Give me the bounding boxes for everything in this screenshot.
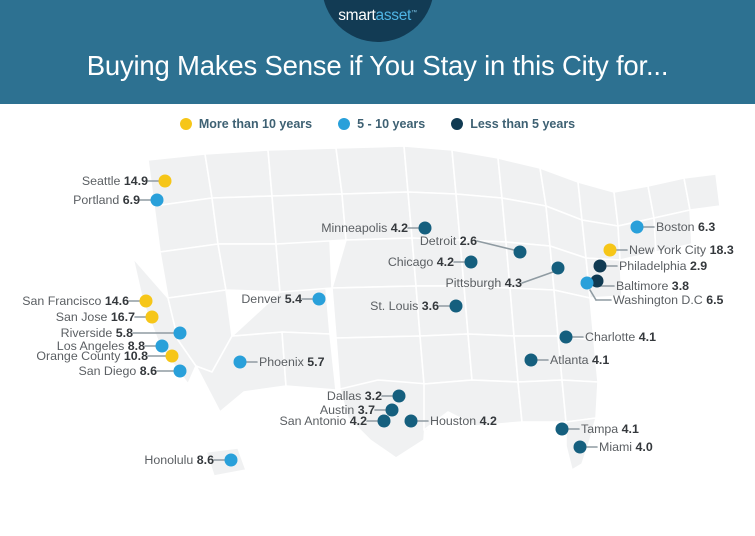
city-name-tampa: Tampa	[581, 422, 618, 436]
legend-label-less-than-5: Less than 5 years	[470, 117, 575, 131]
city-dot-philadelphia[interactable]	[594, 260, 607, 273]
city-dot-riverside[interactable]	[174, 327, 187, 340]
city-name-phoenix: Phoenix	[259, 355, 304, 369]
city-label-charlotte: Charlotte 4.1	[585, 330, 656, 344]
city-name-philadelphia: Philadelphia	[619, 259, 687, 273]
city-label-portland: Portland 6.9	[73, 193, 140, 207]
city-dot-atlanta[interactable]	[525, 354, 538, 367]
city-value-san-diego: 8.6	[140, 364, 157, 378]
city-value-san-francisco: 14.6	[105, 294, 129, 308]
city-name-washington-dc: Washington D.C	[613, 293, 703, 307]
city-dot-pittsburgh[interactable]	[552, 262, 565, 275]
city-name-orange-county: Orange County	[36, 349, 120, 363]
city-dot-san-jose[interactable]	[146, 311, 159, 324]
city-name-minneapolis: Minneapolis	[321, 221, 387, 235]
city-dot-miami[interactable]	[574, 441, 587, 454]
city-value-new-york-city: 18.3	[710, 243, 734, 257]
infographic-page: smartasset™ Buying Makes Sense if You St…	[0, 0, 755, 536]
city-name-honolulu: Honolulu	[144, 453, 193, 467]
city-value-boston: 6.3	[698, 220, 715, 234]
city-label-seattle: Seattle 14.9	[82, 174, 148, 188]
city-dot-new-york-city[interactable]	[604, 244, 617, 257]
city-label-minneapolis: Minneapolis 4.2	[321, 221, 408, 235]
city-label-miami: Miami 4.0	[599, 440, 653, 454]
city-dot-dallas[interactable]	[393, 390, 406, 403]
city-name-new-york-city: New York City	[629, 243, 706, 257]
city-label-houston: Houston 4.2	[430, 414, 497, 428]
city-dot-chicago[interactable]	[465, 256, 478, 269]
city-dot-san-francisco[interactable]	[140, 295, 153, 308]
city-value-chicago: 4.2	[437, 255, 454, 269]
city-label-st-louis: St. Louis 3.6	[370, 299, 439, 313]
smartasset-logo[interactable]: smartasset™	[322, 0, 434, 42]
city-dot-seattle[interactable]	[159, 175, 172, 188]
city-label-honolulu: Honolulu 8.6	[144, 453, 214, 467]
city-value-phoenix: 5.7	[307, 355, 324, 369]
city-label-orange-county: Orange County 10.8	[36, 349, 148, 363]
legend: More than 10 years 5 - 10 years Less tha…	[0, 104, 755, 144]
city-label-denver: Denver 5.4	[241, 292, 302, 306]
city-value-pittsburgh: 4.3	[505, 276, 522, 290]
city-value-san-jose: 16.7	[111, 310, 135, 324]
logo-asset-text: asset	[376, 7, 412, 24]
legend-label-more-than-10: More than 10 years	[199, 117, 312, 131]
city-label-san-francisco: San Francisco 14.6	[22, 294, 129, 308]
legend-item-5-to-10[interactable]: 5 - 10 years	[338, 117, 425, 131]
city-dot-honolulu[interactable]	[225, 454, 238, 467]
city-label-detroit: Detroit 2.6	[420, 234, 477, 248]
city-value-orange-county: 10.8	[124, 349, 148, 363]
city-dot-phoenix[interactable]	[234, 356, 247, 369]
city-label-riverside: Riverside 5.8	[61, 326, 133, 340]
legend-item-less-than-5[interactable]: Less than 5 years	[451, 117, 575, 131]
city-value-portland: 6.9	[123, 193, 140, 207]
legend-item-more-than-10[interactable]: More than 10 years	[180, 117, 312, 131]
city-label-philadelphia: Philadelphia 2.9	[619, 259, 707, 273]
city-value-denver: 5.4	[285, 292, 302, 306]
city-name-san-jose: San Jose	[56, 310, 108, 324]
city-name-houston: Houston	[430, 414, 476, 428]
city-value-riverside: 5.8	[116, 326, 133, 340]
logo-trademark-icon: ™	[411, 10, 417, 16]
logo-smart-text: smart	[338, 7, 375, 24]
city-label-tampa: Tampa 4.1	[581, 422, 639, 436]
city-name-baltimore: Baltimore	[616, 279, 668, 293]
us-map: Seattle 14.9 Portland 6.9 San Francisco …	[0, 140, 755, 536]
city-dot-portland[interactable]	[151, 194, 164, 207]
city-name-chicago: Chicago	[388, 255, 433, 269]
city-name-san-francisco: San Francisco	[22, 294, 101, 308]
city-value-st-louis: 3.6	[422, 299, 439, 313]
city-name-denver: Denver	[241, 292, 281, 306]
city-dot-houston[interactable]	[405, 415, 418, 428]
legend-dot-icon-yellow	[180, 118, 192, 130]
city-label-boston: Boston 6.3	[656, 220, 715, 234]
legend-dot-icon-light-blue	[338, 118, 350, 130]
legend-label-5-to-10: 5 - 10 years	[357, 117, 425, 131]
city-label-san-diego: San Diego 8.6	[78, 364, 157, 378]
city-name-atlanta: Atlanta	[550, 353, 589, 367]
city-dot-detroit[interactable]	[514, 246, 527, 259]
city-name-charlotte: Charlotte	[585, 330, 635, 344]
city-dot-st-louis[interactable]	[450, 300, 463, 313]
city-value-tampa: 4.1	[622, 422, 639, 436]
header-banner: smartasset™ Buying Makes Sense if You St…	[0, 0, 755, 104]
city-dot-san-antonio[interactable]	[378, 415, 391, 428]
city-value-charlotte: 4.1	[639, 330, 656, 344]
city-dot-minneapolis[interactable]	[419, 222, 432, 235]
city-name-detroit: Detroit	[420, 234, 457, 248]
city-label-chicago: Chicago 4.2	[388, 255, 454, 269]
legend-dot-icon-dark-navy	[451, 118, 463, 130]
city-label-phoenix: Phoenix 5.7	[259, 355, 324, 369]
city-name-san-antonio: San Antonio	[279, 414, 346, 428]
city-value-philadelphia: 2.9	[690, 259, 707, 273]
city-value-detroit: 2.6	[460, 234, 477, 248]
city-dot-boston[interactable]	[631, 221, 644, 234]
city-name-dallas: Dallas	[327, 389, 361, 403]
city-value-washington-dc: 6.5	[706, 293, 723, 307]
logo-wordmark: smartasset™	[338, 7, 417, 25]
city-dot-washington-dc[interactable]	[581, 277, 594, 290]
city-value-miami: 4.0	[636, 440, 653, 454]
city-label-new-york-city: New York City 18.3	[629, 243, 734, 257]
city-dot-orange-county[interactable]	[166, 350, 179, 363]
city-dot-san-diego[interactable]	[174, 365, 187, 378]
city-label-baltimore: Baltimore 3.8	[616, 279, 689, 293]
city-label-atlanta: Atlanta 4.1	[550, 353, 609, 367]
city-value-honolulu: 8.6	[197, 453, 214, 467]
city-value-atlanta: 4.1	[592, 353, 609, 367]
city-value-san-antonio: 4.2	[350, 414, 367, 428]
city-label-pittsburgh: Pittsburgh 4.3	[446, 276, 522, 290]
city-label-dallas: Dallas 3.2	[327, 389, 382, 403]
city-name-portland: Portland	[73, 193, 119, 207]
city-name-st-louis: St. Louis	[370, 299, 418, 313]
city-name-riverside: Riverside	[61, 326, 113, 340]
city-dot-denver[interactable]	[313, 293, 326, 306]
page-title: Buying Makes Sense if You Stay in this C…	[0, 50, 755, 82]
city-value-seattle: 14.9	[124, 174, 148, 188]
city-name-boston: Boston	[656, 220, 695, 234]
city-dot-charlotte[interactable]	[560, 331, 573, 344]
city-name-pittsburgh: Pittsburgh	[446, 276, 502, 290]
city-value-houston: 4.2	[480, 414, 497, 428]
city-name-seattle: Seattle	[82, 174, 121, 188]
city-value-dallas: 3.2	[365, 389, 382, 403]
city-name-miami: Miami	[599, 440, 632, 454]
city-dot-tampa[interactable]	[556, 423, 569, 436]
city-label-washington-dc: Washington D.C 6.5	[613, 293, 723, 307]
city-label-san-jose: San Jose 16.7	[56, 310, 135, 324]
city-label-san-antonio: San Antonio 4.2	[279, 414, 367, 428]
city-value-minneapolis: 4.2	[391, 221, 408, 235]
city-value-baltimore: 3.8	[672, 279, 689, 293]
city-name-san-diego: San Diego	[78, 364, 136, 378]
